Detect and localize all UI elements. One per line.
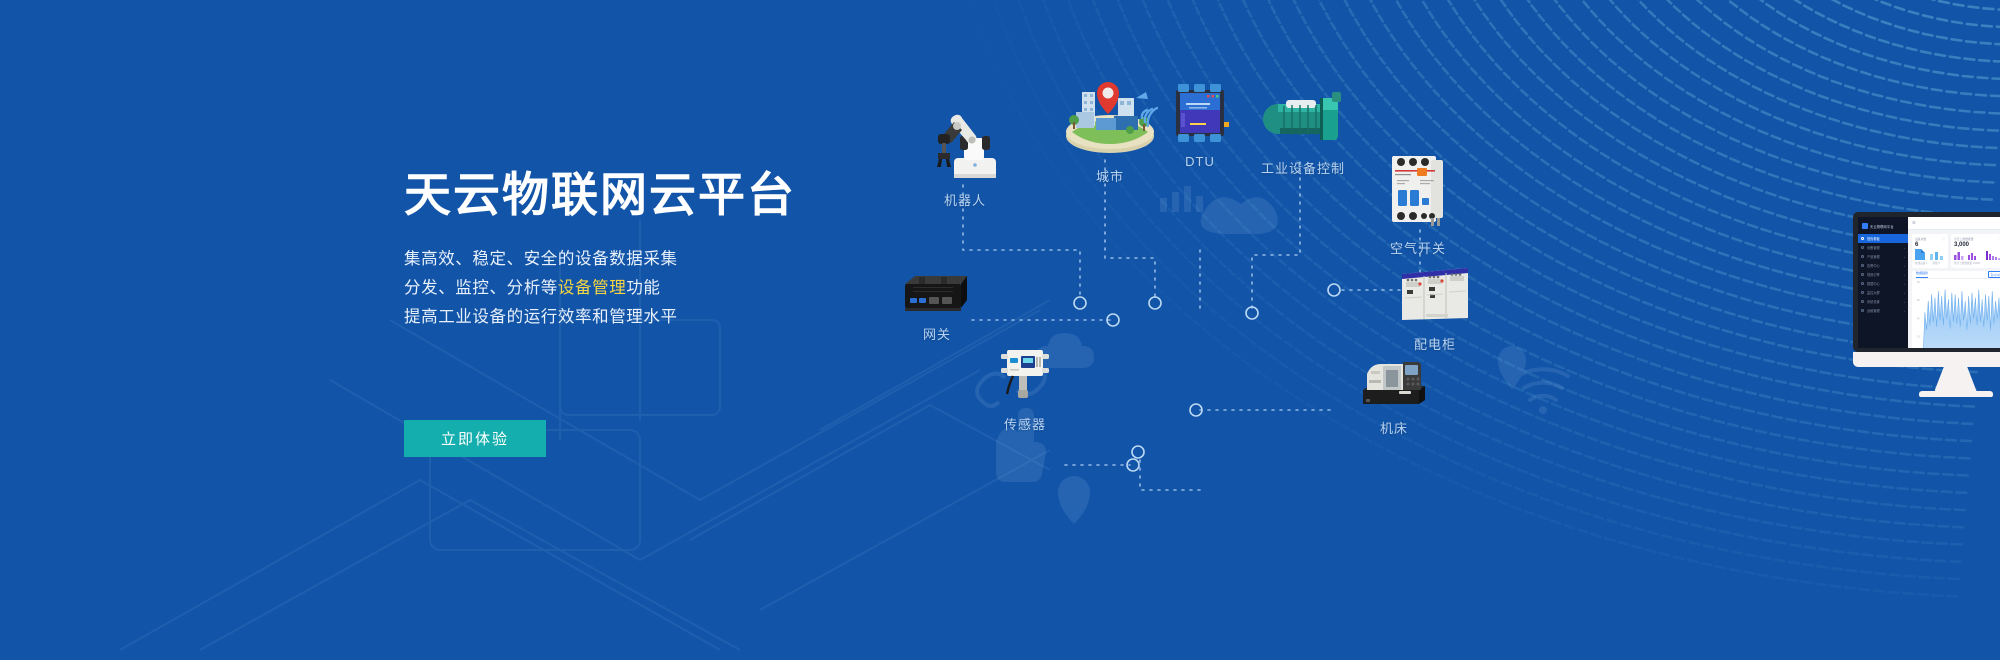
page-title: 天云物联网云平台 — [404, 168, 924, 222]
node-dtu[interactable]: DTU — [1168, 82, 1232, 169]
sensor-icon — [997, 342, 1053, 404]
chart-body: 023456890 — [1912, 279, 2000, 348]
nav-item-label: 告警中心 — [1867, 263, 1880, 268]
mini-bar-chart — [1929, 250, 1945, 260]
stat-card: 今日上报数据量ⓘ3,000累计上报数据量 45000 — [1951, 234, 2000, 268]
hero-subtitle: 集高效、稳定、安全的设备数据采集 分发、监控、分析等设备管理功能 提高工业设备的… — [404, 245, 924, 332]
svg-text:23: 23 — [1917, 335, 1920, 339]
node-motor[interactable]: 工业设备控制 — [1258, 88, 1348, 177]
svg-text:68: 68 — [1917, 298, 1920, 302]
range-button[interactable]: 近1小时 — [1988, 271, 2000, 278]
chart-tab[interactable]: 数据趋势 — [1916, 271, 1928, 278]
dashboard-screen: 天云物联网平台 首页看板设备管理›产品管理›告警中心›规则引擎›数据中心›监控大… — [1858, 217, 2000, 348]
logo-mark-icon — [1862, 223, 1868, 229]
node-label: DTU — [1168, 154, 1232, 169]
subtitle-line-2: 分发、监控、分析等设备管理功能 — [404, 274, 924, 303]
try-now-button[interactable]: 立即体验 — [404, 420, 546, 457]
device-network-illustration: 城市 DTU — [900, 0, 2000, 660]
nav-bullet-icon — [1861, 246, 1864, 249]
card-value: 3,000 — [1954, 242, 2000, 249]
card-value: 6 — [1915, 242, 1945, 249]
logo-text: 天云物联网平台 — [1870, 224, 1894, 229]
dashboard-sidebar: 天云物联网平台 首页看板设备管理›产品管理›告警中心›规则引擎›数据中心›监控大… — [1858, 217, 1908, 348]
nav-bullet-icon — [1861, 309, 1864, 312]
dashboard-nav-item[interactable]: 设备管理› — [1858, 243, 1908, 252]
subtitle-highlight: 设备管理 — [558, 279, 626, 297]
nav-bullet-icon — [1861, 282, 1864, 285]
node-sensor[interactable]: 传感器 — [985, 342, 1065, 433]
card-footer-item: 累计上报数据量 45000 — [1954, 261, 1980, 265]
nav-item-label: 数据中心 — [1867, 281, 1880, 286]
chart-icon — [1954, 250, 1964, 260]
nav-bullet-icon — [1861, 273, 1864, 276]
monitor-stand-neck — [1935, 367, 1977, 391]
node-label: 机器人 — [920, 190, 1010, 209]
dashboard-nav-item[interactable]: 产品管理› — [1858, 252, 1908, 261]
chevron-down-icon: › — [1904, 282, 1905, 286]
node-cabinet[interactable]: 配电柜 — [1390, 262, 1480, 353]
nav-bullet-icon — [1861, 237, 1864, 240]
node-label: 空气开关 — [1378, 238, 1458, 257]
dashboard-nav-item[interactable]: 运维管理› — [1858, 306, 1908, 315]
hero-banner: 天云物联网云平台 集高效、稳定、安全的设备数据采集 分发、监控、分析等设备管理功… — [0, 0, 2000, 660]
svg-text:45: 45 — [1917, 316, 1920, 320]
card-footer-item: 离线 5 — [1933, 261, 1940, 265]
dashboard-nav-item[interactable]: 首页看板 — [1858, 234, 1908, 243]
card-footer: 在线设备 1离线 5 — [1915, 261, 1945, 265]
nav-item-label: 运维管理 — [1867, 308, 1880, 313]
card-mini-visual — [1954, 249, 2000, 261]
subtitle-line-1: 集高效、稳定、安全的设备数据采集 — [404, 245, 924, 274]
card-header: 今日上报数据量ⓘ — [1954, 237, 2000, 241]
menu-toggle-icon[interactable]: ☰ — [1912, 221, 1916, 225]
chevron-down-icon: › — [1904, 264, 1905, 268]
gateway-icon — [901, 270, 973, 314]
chart-panel: 数据趋势 近1小时 今日 本周 本月 2023-08-01 至 2023-08-… — [1912, 271, 2000, 348]
monitor-stand-base — [1919, 391, 1993, 397]
subtitle-text: 提高工业设备的运行效率和管理水平 — [404, 308, 678, 326]
chevron-down-icon: › — [1904, 255, 1905, 259]
node-breaker[interactable]: 空气开关 — [1378, 150, 1458, 257]
stat-cards: 设备总数ⓘ6在线设备 1离线 5今日上报数据量ⓘ3,000累计上报数据量 450… — [1908, 230, 2000, 268]
dashboard-nav: 首页看板设备管理›产品管理›告警中心›规则引擎›数据中心›监控大屏›系统设置›运… — [1858, 234, 1908, 315]
area-chart: 023456890 — [1912, 279, 2000, 348]
robot-arm-icon — [924, 110, 1006, 180]
nav-bullet-icon — [1861, 264, 1864, 267]
chevron-down-icon: › — [1904, 300, 1905, 304]
dashboard-nav-item[interactable]: 监控大屏› — [1858, 288, 1908, 297]
dashboard-main: ☰ 帮助中心 物联网开发平台 产品中心 超级管理员 设备总数ⓘ6在线设备 1离线… — [1908, 217, 2000, 348]
document-icon — [1915, 249, 1925, 260]
nav-item-label: 规则引擎 — [1867, 272, 1880, 277]
nav-bullet-icon — [1861, 300, 1864, 303]
info-icon[interactable]: ⓘ — [1942, 237, 1945, 241]
subtitle-text: 集高效、稳定、安全的设备数据采集 — [404, 250, 678, 268]
stat-card: 设备总数ⓘ6在线设备 1离线 5 — [1912, 234, 1948, 268]
node-label: 网关 — [892, 324, 982, 343]
nav-item-label: 系统设置 — [1867, 299, 1880, 304]
nav-item-label: 监控大屏 — [1867, 290, 1880, 295]
dashboard-nav-item[interactable]: 规则引擎› — [1858, 270, 1908, 279]
dashboard-nav-item[interactable]: 系统设置› — [1858, 297, 1908, 306]
motor-icon — [1262, 88, 1344, 148]
circuit-breaker-icon — [1387, 150, 1449, 228]
chevron-down-icon: › — [1904, 246, 1905, 250]
card-mini-visual — [1915, 249, 1945, 261]
chevron-down-icon: › — [1904, 291, 1905, 295]
dashboard-logo: 天云物联网平台 — [1858, 219, 1908, 232]
chart-header: 数据趋势 近1小时 今日 本周 本月 2023-08-01 至 2023-08-… — [1912, 271, 2000, 279]
node-robot[interactable]: 机器人 — [920, 110, 1010, 209]
dashboard-topbar: ☰ 帮助中心 物联网开发平台 产品中心 超级管理员 — [1908, 217, 2000, 230]
node-gateway[interactable]: 网关 — [892, 270, 982, 343]
nav-bullet-icon — [1861, 291, 1864, 294]
node-label: 机床 — [1352, 418, 1436, 437]
node-city[interactable]: 城市 — [1055, 78, 1165, 185]
monitor-bezel: 天云物联网平台 首页看板设备管理›产品管理›告警中心›规则引擎›数据中心›监控大… — [1853, 212, 2000, 352]
subtitle-text: 分发、监控、分析等 — [404, 279, 558, 297]
monitor: 天云物联网平台 首页看板设备管理›产品管理›告警中心›规则引擎›数据中心›监控大… — [1853, 212, 2000, 387]
card-label: 今日上报数据量 — [1954, 237, 1974, 241]
mini-bar-chart — [1968, 250, 2000, 260]
svg-text:90: 90 — [1917, 280, 1920, 284]
node-label: 配电柜 — [1390, 334, 1480, 353]
nav-item-label: 产品管理 — [1867, 254, 1880, 259]
nav-item-label: 设备管理 — [1867, 245, 1880, 250]
node-label: 传感器 — [985, 414, 1065, 433]
nav-bullet-icon — [1861, 255, 1864, 258]
node-label: 城市 — [1055, 166, 1165, 185]
dashboard-nav-item[interactable]: 告警中心› — [1858, 261, 1908, 270]
chevron-down-icon: › — [1904, 309, 1905, 313]
nav-item-label: 首页看板 — [1867, 236, 1880, 241]
node-lathe[interactable]: 机床 — [1352, 358, 1436, 437]
card-header: 设备总数ⓘ — [1915, 237, 1945, 241]
machine-tool-icon — [1359, 358, 1429, 408]
card-footer-item: 在线设备 1 — [1915, 261, 1928, 265]
city-icon — [1060, 78, 1160, 156]
dtu-icon — [1168, 82, 1232, 144]
distribution-cabinet-icon — [1396, 262, 1474, 324]
card-label: 设备总数 — [1915, 237, 1926, 241]
node-label: 工业设备控制 — [1258, 158, 1348, 177]
subtitle-line-3: 提高工业设备的运行效率和管理水平 — [404, 303, 924, 332]
chevron-down-icon: › — [1904, 273, 1905, 277]
dashboard-nav-item[interactable]: 数据中心› — [1858, 279, 1908, 288]
card-footer: 累计上报数据量 45000 — [1954, 261, 2000, 265]
subtitle-text: 功能 — [626, 279, 660, 297]
hero-copy: 天云物联网云平台 集高效、稳定、安全的设备数据采集 分发、监控、分析等设备管理功… — [404, 168, 924, 332]
monitor-chin — [1853, 352, 2000, 367]
